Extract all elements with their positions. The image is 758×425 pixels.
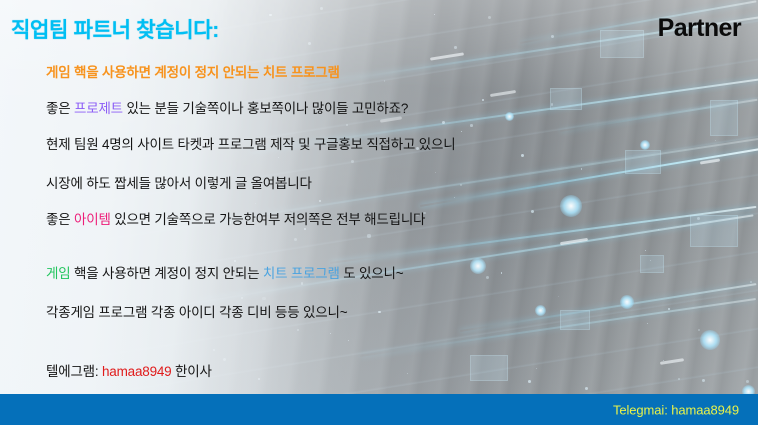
text-run: 치트 프로그램 [263, 266, 340, 281]
contact-line: 텔에그램: hamaa8949 한이사 [46, 360, 212, 380]
text-run: 도 있으니~ [340, 266, 404, 281]
text-run: 시장에 하도 짭세들 많아서 이렇게 글 올여봅니다 [46, 176, 312, 191]
text-run: 핵을 사용하면 계정이 정지 안되는 [70, 266, 262, 281]
body-line-5: 게임 핵을 사용하면 계정이 정지 안되는 치트 프로그램 도 있으니~ [46, 262, 403, 282]
body-line-2: 현제 팀원 4명의 사이트 타켓과 프로그램 제작 및 구글홍보 직접하고 있으… [46, 133, 455, 153]
text-run: 게임 [46, 266, 70, 281]
slide-content: 직업팀 파트너 찾습니다: Partner 게임 핵을 사용하면 계정이 정지 … [0, 0, 758, 425]
text-run: 텔에그램: [46, 364, 102, 379]
footer-bar: Telegmai: hamaa8949 [0, 394, 758, 425]
text-run: 프로제트 [74, 101, 123, 116]
headline-text: 게임 핵을 사용하면 계정이 정지 안되는 치트 프로그램 [46, 61, 340, 81]
body-line-4: 좋은 아이템 있으면 기술쪽으로 가능한여부 저의쪽은 전부 해드립니다 [46, 208, 425, 228]
text-run: 있는 분들 기술쪽이나 홍보쪽이나 많이들 고민하죠? [123, 101, 408, 116]
brand-logo: Partner [658, 14, 741, 43]
text-run: 좋은 [46, 212, 74, 227]
text-run: 아이템 [74, 212, 111, 227]
text-run: hamaa8949 [102, 364, 172, 379]
text-run: 좋은 [46, 101, 74, 116]
text-run: 각종게임 프로그램 각종 아이디 각종 디비 등등 있으니~ [46, 305, 347, 320]
slide-canvas: 직업팀 파트너 찾습니다: Partner 게임 핵을 사용하면 계정이 정지 … [0, 0, 758, 425]
body-line-3: 시장에 하도 짭세들 많아서 이렇게 글 올여봅니다 [46, 172, 312, 192]
footer-telegram-contact: Telegmai: hamaa8949 [613, 402, 739, 417]
text-run: 있으면 기술쪽으로 가능한여부 저의쪽은 전부 해드립니다 [111, 212, 426, 227]
text-run: 한이사 [172, 364, 212, 379]
body-line-6: 각종게임 프로그램 각종 아이디 각종 디비 등등 있으니~ [46, 301, 347, 321]
page-title: 직업팀 파트너 찾습니다: [11, 14, 219, 44]
text-run: 현제 팀원 4명의 사이트 타켓과 프로그램 제작 및 구글홍보 직접하고 있으… [46, 137, 455, 152]
body-line-1: 좋은 프로제트 있는 분들 기술쪽이나 홍보쪽이나 많이들 고민하죠? [46, 97, 408, 117]
